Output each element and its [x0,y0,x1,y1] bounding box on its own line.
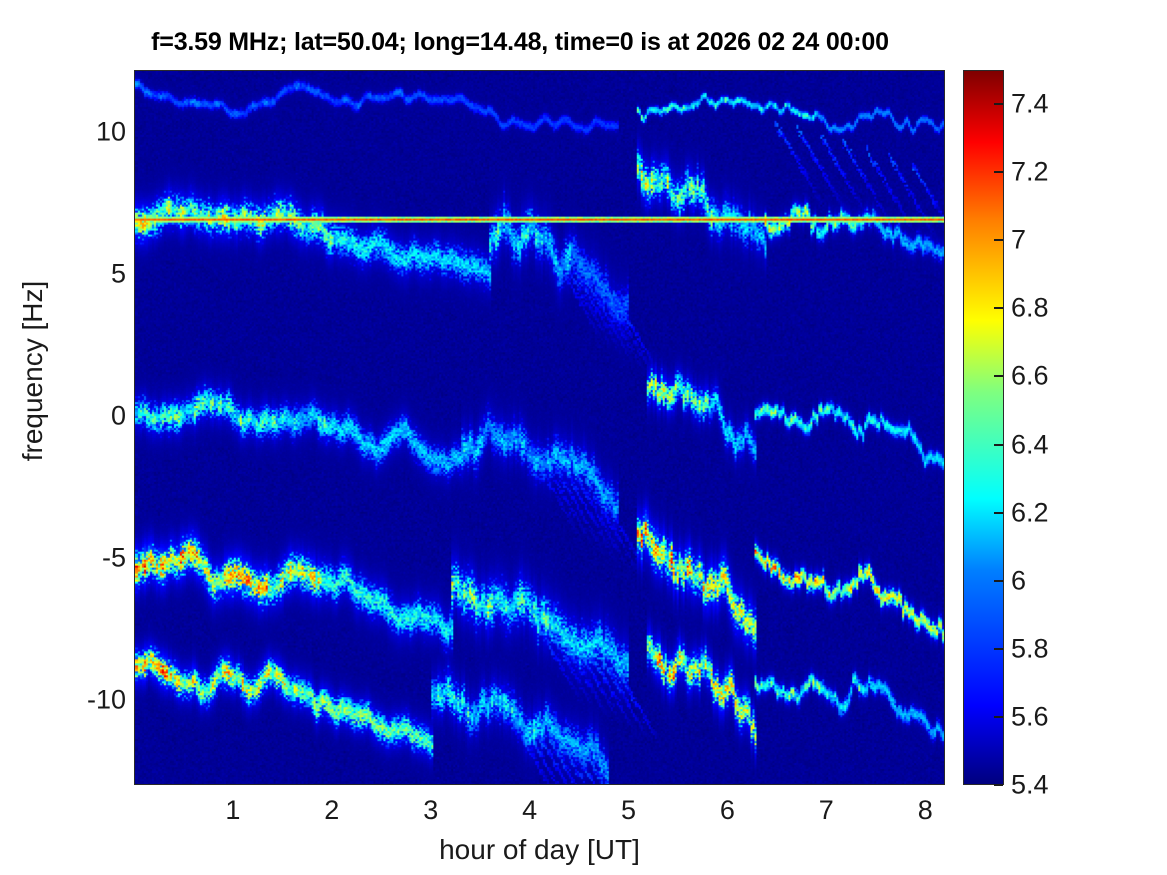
x-tick-label: 3 [401,795,461,826]
colorbar-tick-mark [994,580,1003,582]
spectrogram-canvas [135,71,944,784]
x-tick-label: 4 [500,795,560,826]
y-tick-label: 5 [46,259,126,290]
colorbar-tick-mark [994,444,1003,446]
y-axis-label: frequency [Hz] [17,221,49,521]
colorbar-tick-mark [994,239,1003,241]
colorbar-tick-mark [994,103,1003,105]
x-tick-label: 1 [203,795,263,826]
y-tick-label: 10 [46,117,126,148]
colorbar-tick-label: 6.8 [1011,293,1049,324]
colorbar-tick-mark [994,648,1003,650]
colorbar-tick-label: 6 [1011,565,1026,596]
x-tick-label: 5 [599,795,659,826]
y-tick-label: -10 [46,684,126,715]
colorbar-tick-label: 7 [1011,225,1026,256]
colorbar-tick-label: 5.4 [1011,770,1049,801]
y-tick-label: -5 [46,543,126,574]
colorbar-tick-mark [994,307,1003,309]
x-tick-label: 6 [697,795,757,826]
colorbar-tick-mark [994,512,1003,514]
x-tick-label: 8 [895,795,955,826]
colorbar-tick-label: 6.2 [1011,497,1049,528]
colorbar-tick-mark [994,375,1003,377]
x-tick-label: 2 [302,795,362,826]
colorbar-tick-label: 7.4 [1011,89,1049,120]
colorbar-ticks: 7.47.276.86.66.46.265.85.65.4 [963,70,1163,785]
x-tick-label: 7 [796,795,856,826]
y-tick-label: 0 [46,401,126,432]
figure-title: f=3.59 MHz; lat=50.04; long=14.48, time=… [0,28,1040,57]
x-axis-ticks: 12345678 [134,795,945,835]
colorbar-tick-label: 5.8 [1011,633,1049,664]
colorbar-tick-label: 6.4 [1011,429,1049,460]
spectrogram-figure: f=3.59 MHz; lat=50.04; long=14.48, time=… [0,0,1167,875]
colorbar-tick-mark [994,171,1003,173]
x-axis-label: hour of day [UT] [134,834,945,866]
colorbar-tick-label: 7.2 [1011,157,1049,188]
spectrogram-plot-area [134,70,945,785]
colorbar-tick-mark [994,784,1003,786]
colorbar-tick-mark [994,716,1003,718]
colorbar-tick-label: 6.6 [1011,361,1049,392]
y-axis-ticks: 1050-5-10 [40,70,126,785]
colorbar-tick-label: 5.6 [1011,701,1049,732]
